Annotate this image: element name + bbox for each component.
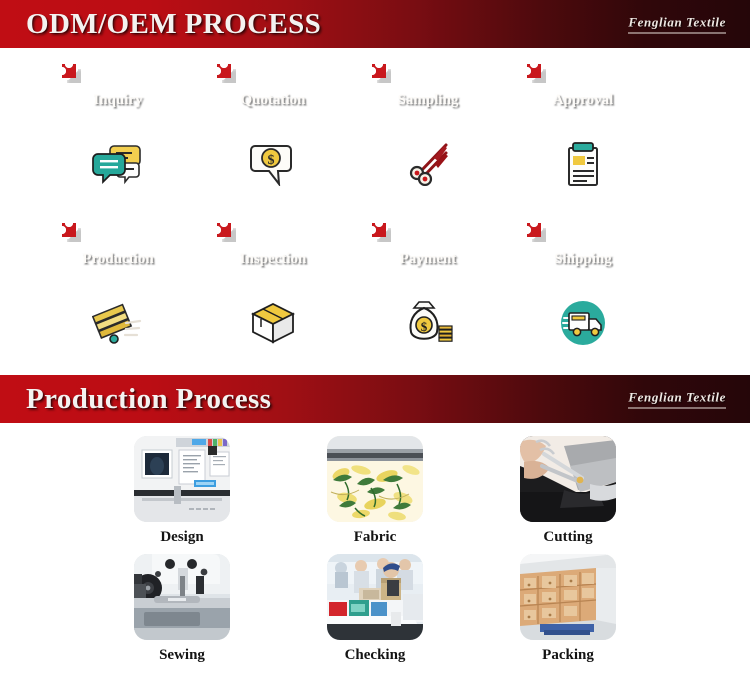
photo-caption: Fabric: [354, 529, 397, 546]
photo-cell-sewing[interactable]: Sewing: [130, 554, 234, 664]
fabric-stack-icon: [62, 295, 174, 351]
stamp-card-production[interactable]: Production: [62, 223, 174, 365]
svg-text:$: $: [268, 153, 275, 168]
photo-row-2: Sewing: [0, 554, 750, 664]
stamp-card-shipping[interactable]: Shipping: [527, 223, 639, 365]
clipboard-document-icon: [527, 136, 639, 192]
stamp-row-2: Production: [0, 223, 750, 365]
stamp-card-inspection[interactable]: Inspection: [217, 223, 329, 365]
section-title: Production Process: [26, 383, 271, 416]
stamp-label: Sampling: [372, 92, 484, 109]
brand-logo: Fenglian Textile: [628, 15, 726, 34]
photo-cell-checking[interactable]: Checking: [323, 554, 427, 664]
price-quote-bubble-icon: $: [217, 136, 329, 192]
process-stamp-grid: Inquiry: [0, 48, 750, 375]
production-photo-grid: Design: [0, 423, 750, 664]
fabric-cutting-photo: [520, 436, 616, 522]
carton-packing-photo: [520, 554, 616, 640]
stamp-card-inquiry[interactable]: Inquiry: [62, 64, 174, 206]
scissors-icon: [372, 136, 484, 192]
stamp-label: Payment: [372, 251, 484, 268]
odm-oem-section-header: ODM/OEM PROCESS Fenglian Textile: [0, 0, 750, 48]
design-workstation-photo: [134, 436, 230, 522]
sewing-machine-photo: [134, 554, 230, 640]
carton-box-icon: [217, 295, 329, 351]
stamp-row-1: Inquiry: [0, 64, 750, 206]
stamp-card-approval[interactable]: Approval: [527, 64, 639, 206]
stamp-label: Inquiry: [62, 92, 174, 109]
photo-cell-design[interactable]: Design: [130, 436, 234, 546]
stamp-label: Production: [62, 251, 174, 268]
delivery-truck-icon: [527, 295, 639, 351]
stamp-label: Inspection: [217, 251, 329, 268]
photo-caption: Cutting: [543, 529, 592, 546]
page-title: ODM/OEM PROCESS: [26, 8, 321, 41]
stamp-card-payment[interactable]: Payment $: [372, 223, 484, 365]
speech-bubbles-icon: [62, 136, 174, 192]
odm-oem-process-page: ODM/OEM PROCESS Fenglian Textile Inquiry: [0, 0, 750, 684]
svg-text:$: $: [421, 319, 428, 334]
photo-cell-fabric[interactable]: Fabric: [323, 436, 427, 546]
stamp-label: Approval: [527, 92, 639, 109]
photo-caption: Packing: [542, 647, 594, 664]
stamp-label: Quotation: [217, 92, 329, 109]
photo-caption: Checking: [345, 647, 406, 664]
stamp-label: Shipping: [527, 251, 639, 268]
stamp-card-quotation[interactable]: Quotation $: [217, 64, 329, 206]
photo-caption: Design: [160, 529, 203, 546]
photo-row-1: Design: [0, 436, 750, 546]
money-bag-coins-icon: $: [372, 295, 484, 351]
production-process-section-header: Production Process Fenglian Textile: [0, 375, 750, 423]
fabric-printing-photo: [327, 436, 423, 522]
stamp-card-sampling[interactable]: Sampling: [372, 64, 484, 206]
photo-cell-packing[interactable]: Packing: [516, 554, 620, 664]
photo-caption: Sewing: [159, 647, 205, 664]
brand-logo: Fenglian Textile: [628, 390, 726, 409]
photo-cell-cutting[interactable]: Cutting: [516, 436, 620, 546]
quality-checking-photo: [327, 554, 423, 640]
